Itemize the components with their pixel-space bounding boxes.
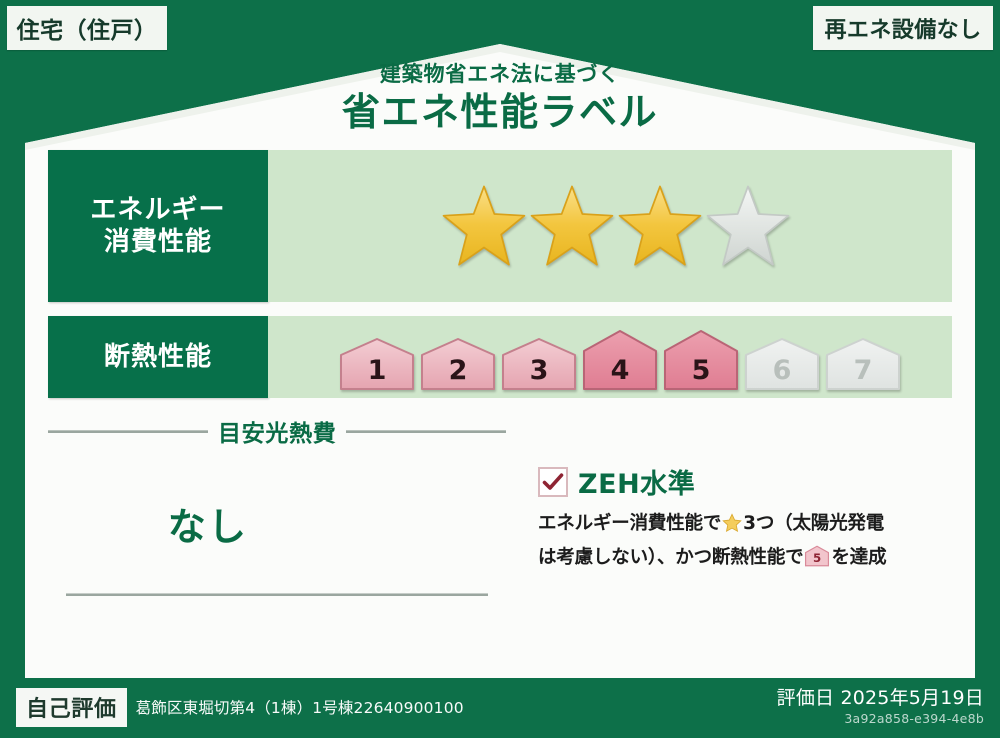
self-evaluation-badge: 自己評価 [16, 688, 127, 727]
insulation-grade-value: 2 [449, 355, 468, 386]
star-filled-icon [529, 183, 615, 269]
document-hash: 3a92a858-e394-4e8b [777, 712, 984, 726]
insulation-grade-scale: 1234567 [338, 321, 902, 393]
insulation-grade-value: 3 [530, 355, 549, 386]
building-id: 葛飾区東堀切第4（1棟）1号棟22640900100 [136, 696, 464, 718]
zeh-section: ZEH水準 エネルギー消費性能で 3つ（太陽光発電は考慮しない）、かつ断熱性能で… [518, 412, 952, 612]
insulation-house-icon: 5 [804, 545, 830, 577]
insulation-grade-4: 4 [581, 321, 659, 393]
badge-dwelling-type-label: 住宅（住戸） [17, 11, 158, 45]
evaluation-date-label: 評価日 [777, 687, 835, 709]
energy-performance-label-box: エネルギー 消費性能 [48, 150, 268, 302]
cost-heading-label: 目安光熱費 [218, 414, 336, 448]
row-energy-performance: エネルギー 消費性能 [48, 150, 952, 302]
badge-renewable-equipment: 再エネ設備なし [813, 6, 993, 50]
star-rating [441, 183, 791, 269]
zeh-desc-part3: は考慮しない）、かつ断熱性能で [538, 547, 803, 568]
title-subtitle: 建築物省エネ法に基づく [0, 58, 1000, 88]
insulation-grade-2: 2 [419, 321, 497, 393]
badge-renewable-equipment-label: 再エネ設備なし [824, 12, 981, 44]
evaluation-date: 評価日 2025年5月19日 [777, 688, 984, 710]
star-filled-icon [441, 183, 527, 269]
cost-heading-rule-right [346, 430, 506, 433]
star-empty-icon [705, 183, 791, 269]
row-insulation-performance: 断熱性能 1234567 [48, 316, 952, 398]
insulation-performance-label-box: 断熱性能 [48, 316, 268, 398]
star-icon [722, 513, 742, 543]
cost-bottom-divider [66, 593, 488, 596]
insulation-house-icon-value: 5 [813, 551, 821, 565]
insulation-grade-value: 1 [368, 355, 387, 386]
insulation-grade-value: 6 [773, 355, 792, 386]
insulation-grade-value: 4 [611, 355, 630, 386]
insulation-performance-value: 1234567 [268, 316, 952, 398]
insulation-grade-6: 6 [743, 321, 821, 393]
insulation-grade-value: 7 [854, 355, 873, 386]
zeh-desc-part4: を達成 [831, 547, 886, 568]
insulation-label: 断熱性能 [104, 341, 212, 374]
zeh-desc-part1: エネルギー消費性能で [538, 513, 721, 534]
zeh-desc-part2: 3つ（太陽光発電 [743, 513, 884, 534]
energy-label-line2: 消費性能 [104, 226, 212, 259]
zeh-title: ZEH水準 [538, 462, 952, 501]
insulation-grade-7: 7 [824, 321, 902, 393]
estimated-utility-cost-section: 目安光熱費 なし [48, 412, 518, 612]
star-filled-icon [617, 183, 703, 269]
check-icon [542, 472, 564, 492]
energy-performance-value [268, 150, 952, 302]
energy-performance-label: 住宅（住戸） 再エネ設備なし 建築物省エネ法に基づく 省エネ性能ラベル エネルギ… [0, 0, 1000, 738]
cost-heading-rule-left [48, 430, 208, 433]
lower-section: 目安光熱費 なし ZEH水準 エネルギー消費性能で [48, 412, 952, 612]
insulation-grade-value: 5 [692, 355, 711, 386]
footer-right: 評価日 2025年5月19日 3a92a858-e394-4e8b [777, 688, 984, 726]
cost-value: なし [48, 496, 518, 551]
page-title: 建築物省エネ法に基づく 省エネ性能ラベル [0, 58, 1000, 134]
title-main: 省エネ性能ラベル [0, 92, 1000, 134]
zeh-label: ZEH水準 [578, 462, 695, 501]
footer: 自己評価 葛飾区東堀切第4（1棟）1号棟22640900100 評価日 2025… [0, 676, 1000, 738]
badge-dwelling-type: 住宅（住戸） [7, 6, 167, 50]
insulation-grade-5: 5 [662, 321, 740, 393]
label-content: エネルギー 消費性能 断熱性能 1234567 目安光熱費 [26, 140, 974, 676]
energy-label-line1: エネルギー [90, 194, 225, 227]
cost-heading: 目安光熱費 [48, 414, 518, 448]
evaluation-date-value: 2025年5月19日 [840, 687, 984, 709]
insulation-grade-3: 3 [500, 321, 578, 393]
footer-left: 自己評価 葛飾区東堀切第4（1棟）1号棟22640900100 [16, 688, 777, 727]
insulation-grade-1: 1 [338, 321, 416, 393]
zeh-checkbox[interactable] [538, 467, 568, 497]
zeh-description: エネルギー消費性能で 3つ（太陽光発電は考慮しない）、かつ断熱性能で 5 を達成 [538, 509, 952, 577]
